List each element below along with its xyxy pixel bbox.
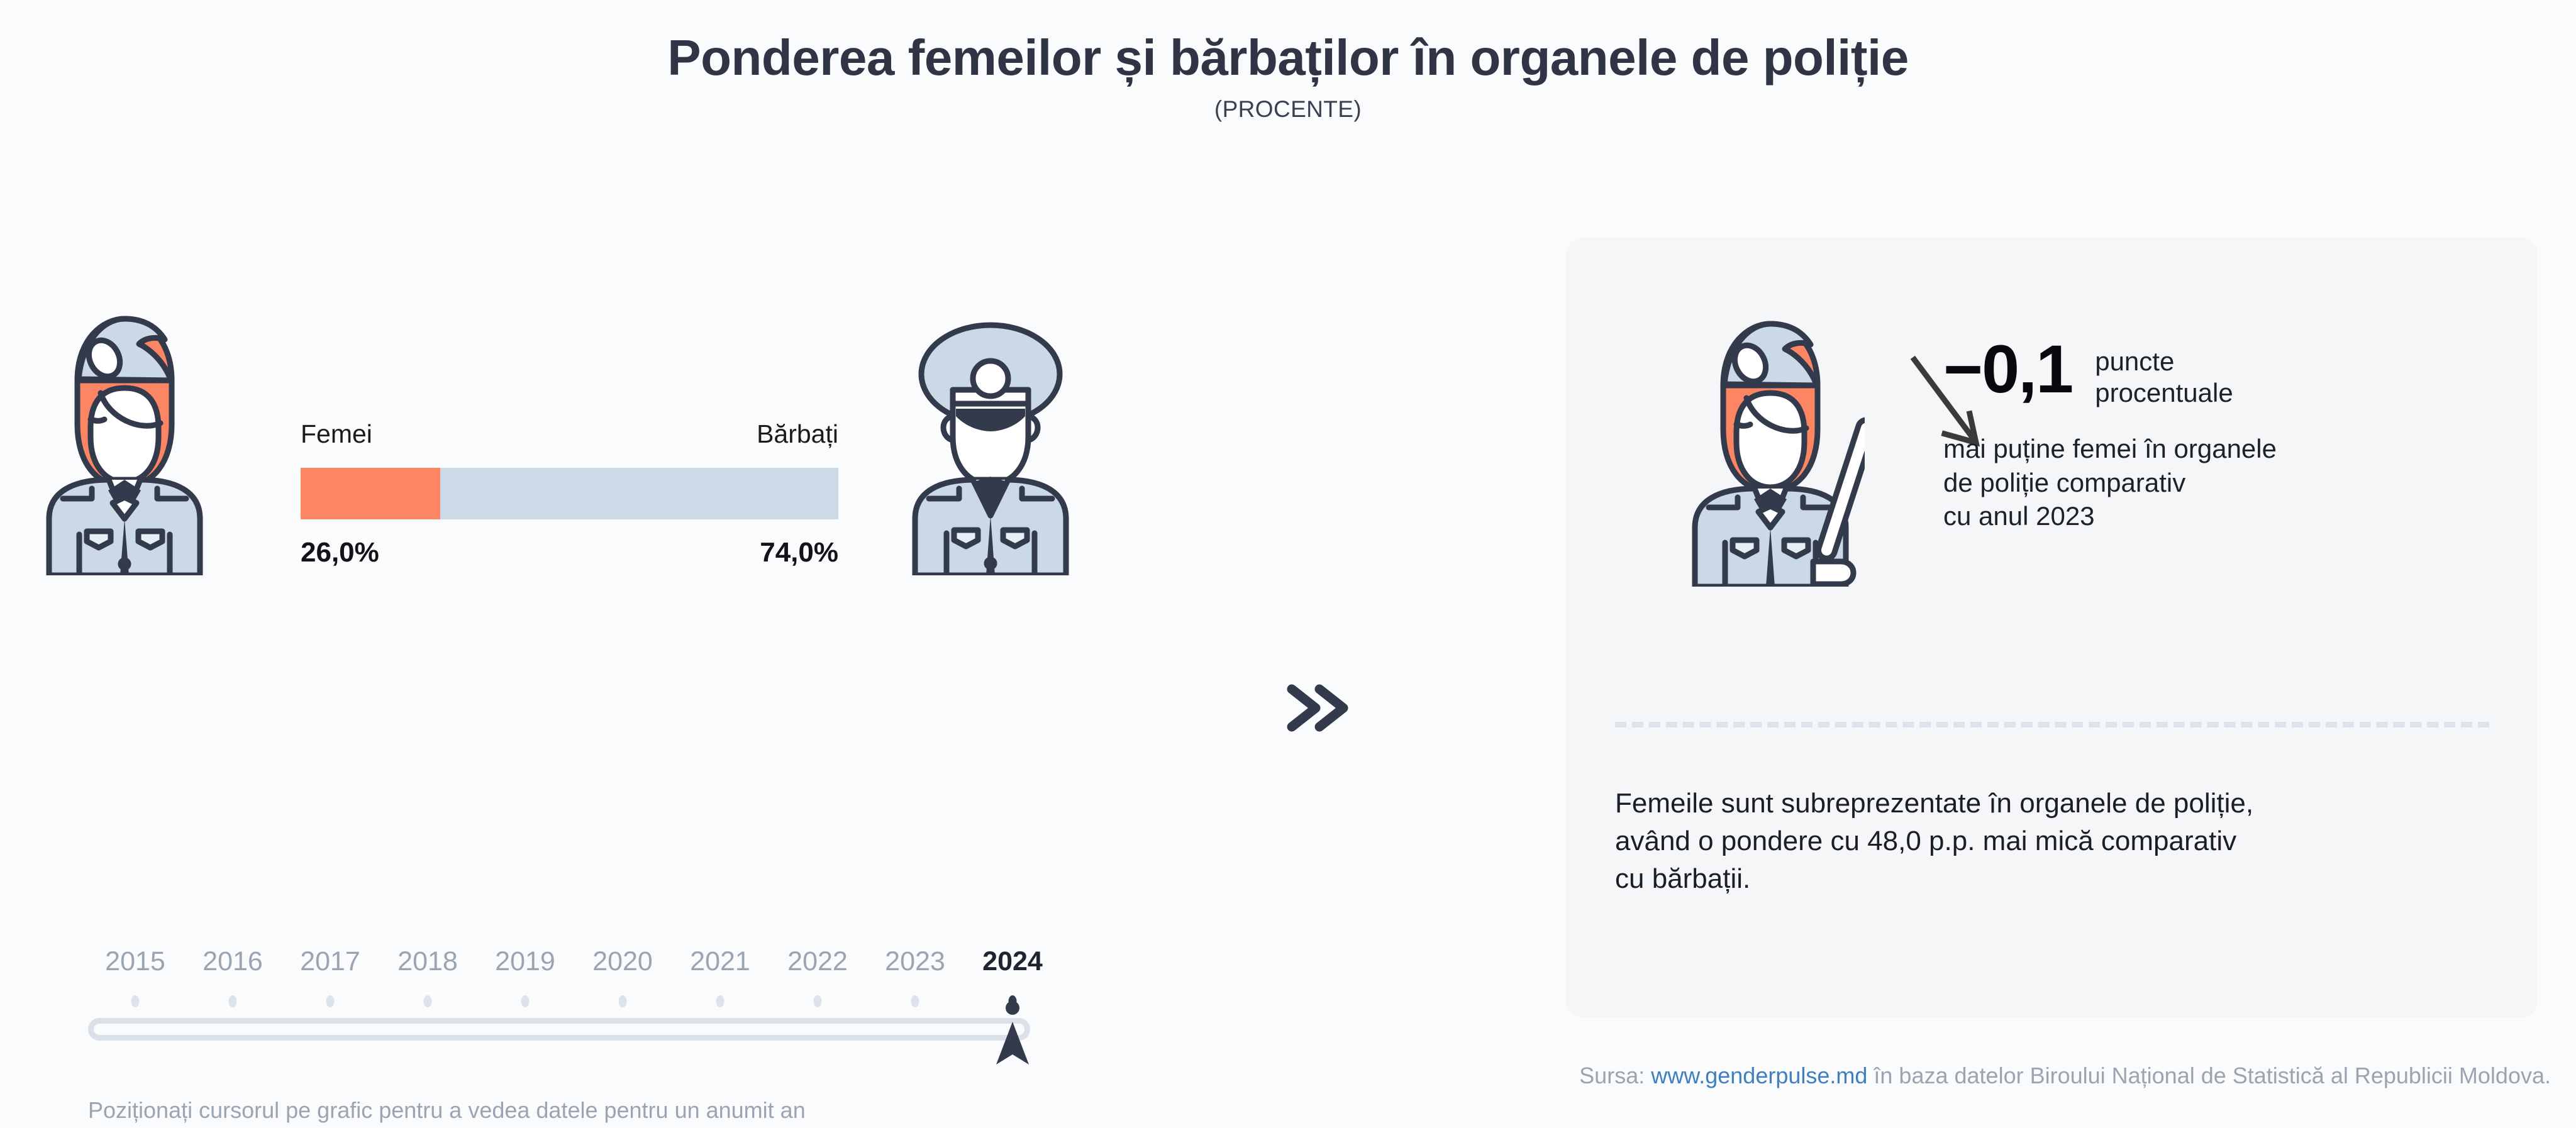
year-timeline-slider[interactable]: 2015201620172018201920202021202220232024… (88, 946, 1044, 1124)
timeline-track-wrap[interactable] (88, 1018, 1044, 1062)
delta-desc-line3: cu anul 2023 (1943, 499, 2509, 533)
timeline-tick-2018[interactable] (424, 995, 432, 1007)
timeline-cursor-handle[interactable] (994, 999, 1031, 1068)
timeline-year-2023[interactable]: 2023 (885, 946, 945, 977)
timeline-tick-2021[interactable] (716, 995, 724, 1007)
female-officer-with-baton-icon (1676, 316, 1865, 590)
page-subtitle: (PROCENTE) (0, 96, 2576, 123)
chevron-double-right-icon (1283, 679, 1352, 740)
timeline-tick-2016[interactable] (229, 995, 237, 1007)
timeline-hint: Poziționați cursorul pe grafic pentru a … (88, 1097, 1044, 1124)
header: Ponderea femeilor și bărbaților în organ… (0, 31, 2576, 123)
left-panel: Femei Bărbați 26,0% 74,0% (0, 207, 1421, 931)
delta-unit-line2: procentuale (2095, 377, 2233, 409)
gender-share-bar-chart: Femei Bărbați 26,0% 74,0% (301, 419, 838, 568)
source-prefix: Sursa: (1579, 1063, 1651, 1088)
delta-block: −0,1 puncte procentuale mai puține femei… (1943, 337, 2509, 533)
women-value: 26,0% (301, 537, 379, 568)
timeline-ticks[interactable] (88, 995, 1044, 1014)
infographic-page: Ponderea femeilor și bărbaților în organ… (0, 0, 2576, 1128)
bar-segment-women[interactable] (301, 468, 440, 519)
bar-labels: Femei Bărbați (301, 419, 838, 449)
bar-segment-men[interactable] (440, 468, 838, 519)
timeline-tick-2015[interactable] (131, 995, 140, 1007)
timeline-year-2015[interactable]: 2015 (105, 946, 165, 977)
timeline-year-2017[interactable]: 2017 (300, 946, 360, 977)
delta-desc-line2: de poliție comparativ (1943, 466, 2509, 500)
timeline-year-2024[interactable]: 2024 (982, 946, 1043, 977)
timeline-year-2019[interactable]: 2019 (495, 946, 555, 977)
timeline-track[interactable] (88, 1018, 1030, 1041)
delta-unit-line1: puncte (2095, 346, 2233, 377)
timeline-tick-2017[interactable] (326, 995, 335, 1007)
delta-value: −0,1 (1943, 337, 2072, 402)
men-label: Bărbați (757, 419, 838, 449)
source-link[interactable]: www.genderpulse.md (1651, 1063, 1867, 1088)
women-label: Femei (301, 419, 372, 449)
timeline-year-2021[interactable]: 2021 (690, 946, 750, 977)
timeline-year-2022[interactable]: 2022 (787, 946, 848, 977)
delta-desc-line1: mai puține femei în organele (1943, 432, 2509, 466)
page-title: Ponderea femeilor și bărbaților în organ… (0, 31, 2576, 85)
card-note: Femeile sunt subreprezentate în organele… (1615, 785, 2470, 897)
card-note-line2: având o pondere cu 48,0 p.p. mai mică co… (1615, 822, 2470, 860)
men-value: 74,0% (760, 537, 838, 568)
timeline-tick-2019[interactable] (521, 995, 530, 1007)
female-officer-icon (30, 311, 219, 578)
timeline-tick-2022[interactable] (814, 995, 822, 1007)
card-note-line3: cu bărbații. (1615, 860, 2470, 898)
source-footer: Sursa: www.genderpulse.md în baza datelo… (0, 1063, 2551, 1089)
timeline-year-2016[interactable]: 2016 (203, 946, 263, 977)
delta-unit: puncte procentuale (2095, 346, 2233, 409)
card-note-line1: Femeile sunt subreprezentate în organele… (1615, 785, 2470, 822)
timeline-year-2018[interactable]: 2018 (397, 946, 458, 977)
card-divider (1615, 722, 2489, 727)
timeline-tick-2023[interactable] (911, 995, 919, 1007)
stacked-bar[interactable] (301, 468, 838, 519)
timeline-year-labels: 2015201620172018201920202021202220232024 (88, 946, 1044, 981)
bar-values: 26,0% 74,0% (301, 537, 838, 568)
source-suffix: în baza datelor Biroului Național de Sta… (1867, 1063, 2551, 1088)
male-officer-icon (896, 308, 1085, 578)
timeline-tick-2020[interactable] (619, 995, 627, 1007)
summary-card: −0,1 puncte procentuale mai puține femei… (1566, 238, 2538, 1017)
delta-description: mai puține femei în organele de poliție … (1943, 432, 2509, 533)
timeline-year-2020[interactable]: 2020 (592, 946, 653, 977)
